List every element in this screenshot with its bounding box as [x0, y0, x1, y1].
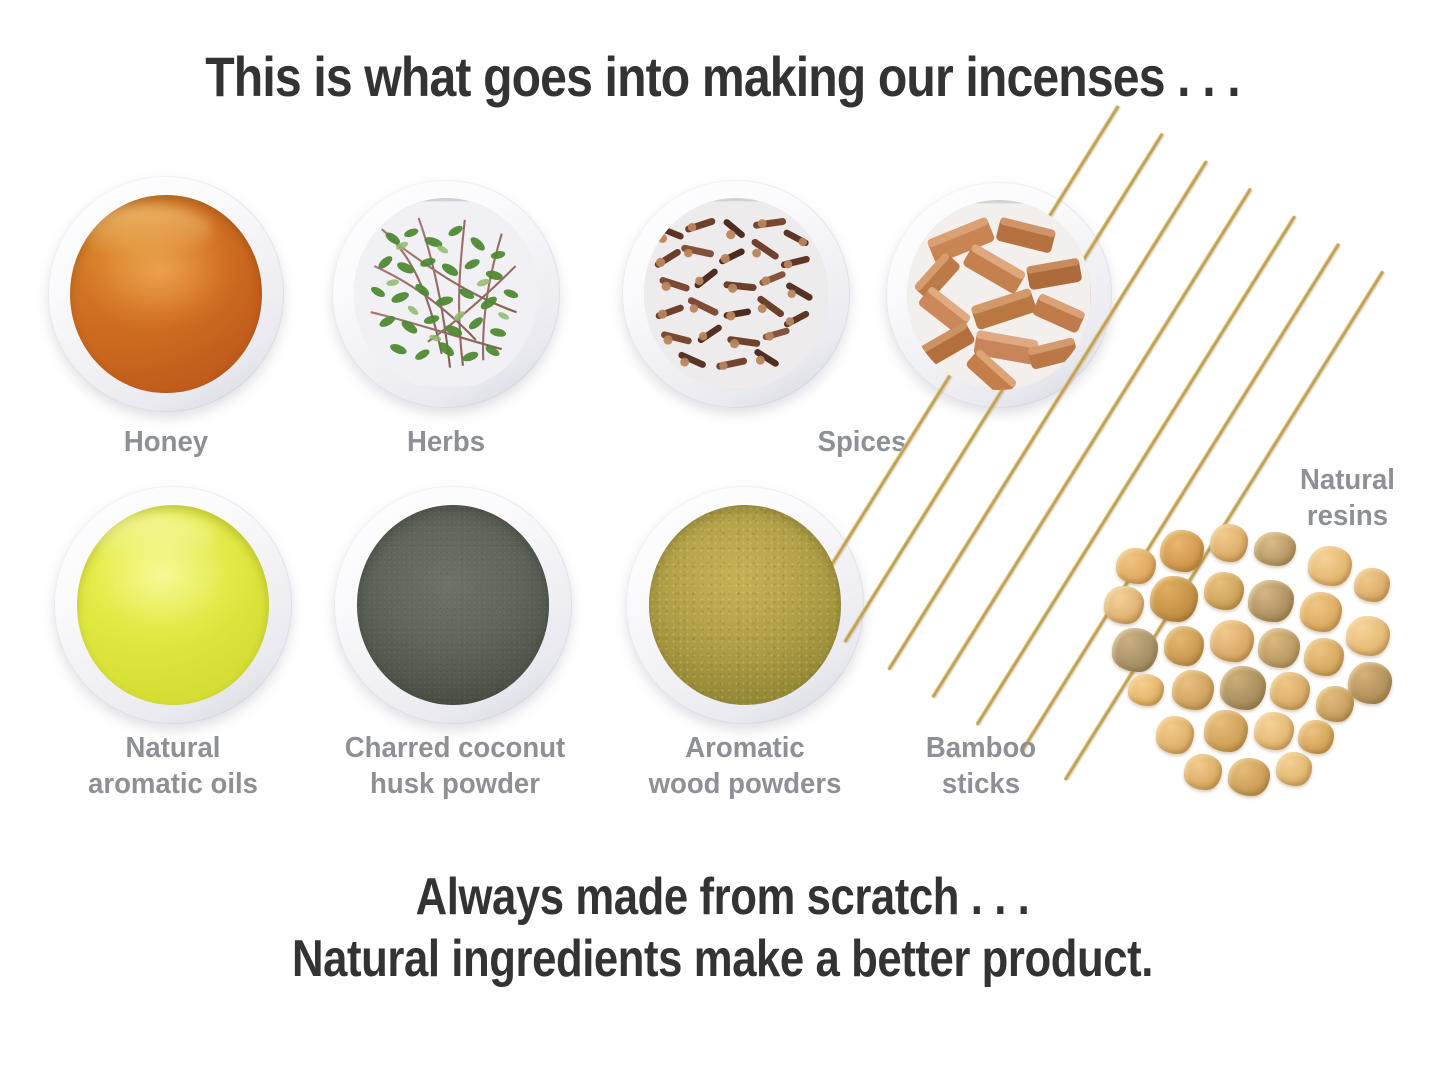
whole-cloves-icon — [644, 198, 829, 390]
cinnamon-bark-icon — [907, 200, 1090, 390]
cinnamon-bark-contents — [907, 200, 1090, 390]
natural-resins-group — [1098, 520, 1428, 810]
resin-chunk — [1254, 532, 1296, 566]
resin-chunk — [1150, 576, 1198, 622]
resin-chunk — [1220, 666, 1266, 710]
resin-chunk — [1354, 568, 1390, 602]
label-honey: Honey — [52, 424, 280, 460]
footer-line-2: Natural ingredients make a better produc… — [116, 928, 1330, 990]
label-aromatic-oils: Natural aromatic oils — [45, 730, 302, 802]
bowl-spices — [622, 180, 850, 408]
powder-grain-texture — [357, 505, 550, 705]
resin-chunk — [1184, 754, 1222, 790]
bowl-herbs — [332, 180, 560, 408]
label-wood-powder: Aromatic wood powders — [607, 730, 883, 802]
honey-liquid — [70, 195, 261, 393]
resin-chunk — [1204, 710, 1248, 752]
bowl-husk-powder — [334, 486, 572, 724]
resin-chunk — [1204, 572, 1244, 610]
aromatic-wood-powder — [649, 505, 842, 705]
thyme-sprigs-icon — [354, 198, 539, 390]
charred-husk-powder — [357, 505, 550, 705]
resin-chunk — [1298, 720, 1334, 754]
cloves-contents — [644, 198, 829, 390]
bowl-aromatic-oils — [54, 486, 292, 724]
footer-tagline: Always made from scratch . . . Natural i… — [0, 866, 1445, 990]
resin-chunk — [1210, 524, 1248, 562]
page-title: This is what goes into making our incens… — [101, 44, 1344, 109]
resin-chunk — [1156, 716, 1194, 754]
resin-chunk — [1258, 628, 1300, 668]
ingredients-poster: This is what goes into making our incens… — [0, 0, 1445, 1073]
resin-chunk — [1270, 672, 1310, 710]
label-herbs: Herbs — [338, 424, 555, 460]
bowl-honey — [48, 176, 284, 412]
resin-chunk — [1276, 752, 1312, 786]
footer-line-1: Always made from scratch . . . — [116, 866, 1330, 928]
resin-chunk — [1172, 670, 1214, 710]
herbs-contents — [354, 198, 539, 390]
resin-chunk — [1128, 674, 1164, 706]
resin-chunk — [1104, 586, 1144, 624]
resin-chunk — [1316, 686, 1354, 722]
resin-chunk — [1228, 758, 1270, 796]
resin-chunk — [1304, 638, 1344, 676]
resin-chunk — [1248, 580, 1294, 622]
resin-chunk — [1300, 592, 1342, 632]
resin-chunk — [1160, 530, 1204, 572]
aromatic-oil-liquid — [77, 505, 270, 705]
resin-chunk — [1308, 546, 1352, 586]
label-husk-powder: Charred coconut husk powder — [317, 730, 593, 802]
resin-chunk — [1254, 712, 1294, 750]
resin-chunk — [1116, 548, 1156, 584]
wood-grain-texture — [649, 505, 842, 705]
resin-chunk — [1348, 662, 1392, 704]
resin-chunk — [1164, 626, 1204, 666]
bowl-wood-powder — [626, 486, 864, 724]
resin-chunk — [1346, 616, 1390, 656]
label-bamboo-sticks: Bamboo sticks — [891, 730, 1072, 802]
resin-chunk — [1112, 628, 1158, 672]
resin-chunk — [1210, 620, 1254, 662]
